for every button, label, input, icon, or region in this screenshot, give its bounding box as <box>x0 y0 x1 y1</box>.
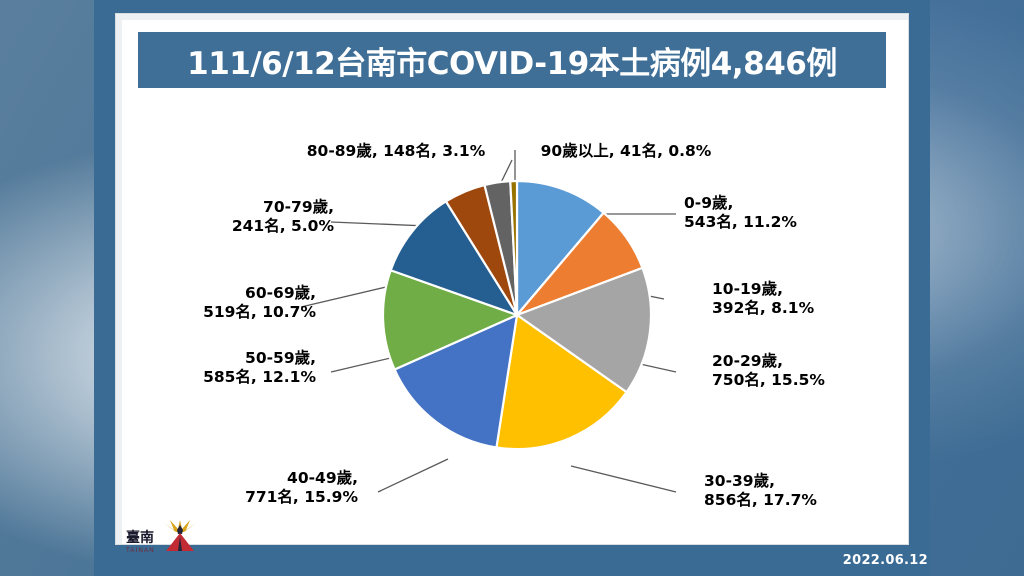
slice-label-20-29-line2: 750名, 15.5% <box>712 371 912 390</box>
slice-label-10-19-line2: 392名, 8.1% <box>712 299 912 318</box>
logo-wordmark-zh: 臺南 <box>126 529 154 546</box>
slice-label-0-9-line1: 0-9歲, <box>684 194 884 213</box>
frame-band-left <box>94 0 116 576</box>
slice-label-90-plus: 90歲以上, 41名, 0.8% <box>501 142 751 161</box>
slice-label-20-29: 20-29歲, 750名, 15.5% <box>712 352 912 390</box>
slice-label-70-79-line2: 241名, 5.0% <box>154 217 334 236</box>
slice-label-40-49: 40-49歲, 771名, 15.9% <box>178 469 358 507</box>
logo-head-icon <box>177 525 183 534</box>
date-stamp: 2022.06.12 <box>843 553 928 568</box>
slice-label-80-89: 80-89歲, 148名, 3.1% <box>266 142 526 161</box>
tainan-logo-svg: 臺南 TAINAN <box>122 506 242 566</box>
slice-label-60-69-line2: 519名, 10.7% <box>136 303 316 322</box>
slice-label-0-9: 0-9歲, 543名, 11.2% <box>684 194 884 232</box>
slice-label-30-39: 30-39歲, 856名, 17.7% <box>704 472 904 510</box>
slice-label-10-19-line1: 10-19歲, <box>712 280 912 299</box>
frame-band-top <box>94 0 930 14</box>
slice-label-10-19: 10-19歲, 392名, 8.1% <box>712 280 912 318</box>
pie-graphic <box>381 179 653 451</box>
slice-label-60-69-line1: 60-69歲, <box>136 284 316 303</box>
title-bar: 111/6/12台南市COVID-19本土病例4,846例 <box>138 32 886 88</box>
slice-label-70-79-line1: 70-79歲, <box>154 198 334 217</box>
slice-label-0-9-line2: 543名, 11.2% <box>684 213 884 232</box>
slide-canvas: 111/6/12台南市COVID-19本土病例4,846例 <box>0 0 1024 576</box>
slice-label-50-59-line1: 50-59歲, <box>136 349 316 368</box>
slide-card: 111/6/12台南市COVID-19本土病例4,846例 <box>116 14 908 544</box>
slice-label-70-79: 70-79歲, 241名, 5.0% <box>154 198 334 236</box>
slice-label-30-39-line2: 856名, 17.7% <box>704 491 904 510</box>
pie-slices <box>381 179 653 451</box>
slice-label-90-plus-text: 90歲以上, 41名, 0.8% <box>501 142 751 161</box>
slice-label-50-59-line2: 585名, 12.1% <box>136 368 316 387</box>
slice-label-50-59: 50-59歲, 585名, 12.1% <box>136 349 316 387</box>
page-title: 111/6/12台南市COVID-19本土病例4,846例 <box>187 38 837 83</box>
tainan-city-logo: 臺南 TAINAN <box>122 506 242 566</box>
slice-label-60-69: 60-69歲, 519名, 10.7% <box>136 284 316 322</box>
slice-label-30-39-line1: 30-39歲, <box>704 472 904 491</box>
pie-chart: 70-79歲, 241名, 5.0% 60-69歲, 519名, 10.7% 5… <box>116 94 908 544</box>
slice-label-80-89-text: 80-89歲, 148名, 3.1% <box>266 142 526 161</box>
logo-wordmark-en: TAINAN <box>126 548 155 554</box>
slice-label-40-49-line1: 40-49歲, <box>178 469 358 488</box>
slice-label-40-49-line2: 771名, 15.9% <box>178 488 358 507</box>
slice-label-20-29-line1: 20-29歲, <box>712 352 912 371</box>
